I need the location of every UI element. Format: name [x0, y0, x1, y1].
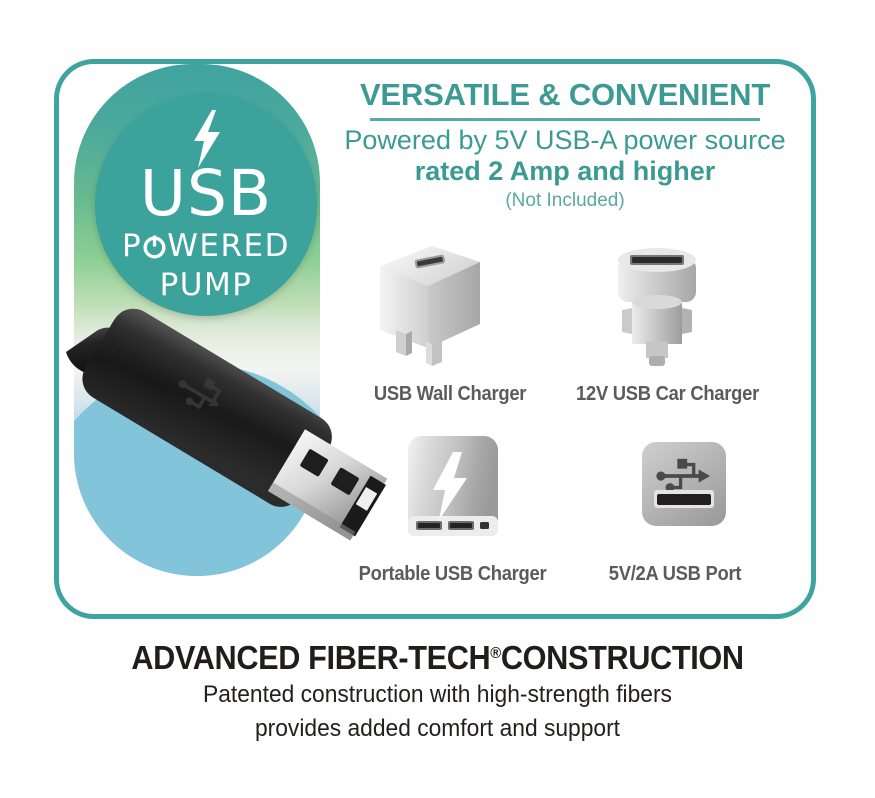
- footer-title-tail: CONSTRUCTION: [501, 639, 744, 676]
- footer-text-block: ADVANCED FIBER-TECH®CONSTRUCTION Patente…: [0, 640, 875, 743]
- footer-subtitle-line1: Patented construction with high-strength…: [22, 681, 853, 709]
- accessory-label: USB Wall Charger: [367, 383, 533, 406]
- badge-powered-suffix: WERED: [167, 228, 290, 264]
- accessory-car-charger: 12V USB Car Charger: [560, 238, 775, 406]
- badge-line-usb: USB: [95, 162, 317, 225]
- usb-a-connector-icon: [58, 300, 388, 580]
- header-note: (Not Included): [330, 189, 800, 214]
- header-underline: [370, 118, 760, 121]
- portable-usb-charger-icon: [345, 428, 560, 563]
- badge-line-powered: PWERED: [95, 231, 317, 262]
- usb-port-icon: [580, 430, 770, 563]
- usb-powered-pump-infographic: USB PWERED PUMP: [0, 0, 875, 798]
- registered-trademark-icon: ®: [490, 645, 501, 662]
- footer-title: ADVANCED FIBER-TECH®CONSTRUCTION: [31, 640, 845, 676]
- header-subtitle-line1: Powered by 5V USB-A power source: [330, 125, 800, 156]
- badge-powered-prefix: P: [122, 228, 142, 264]
- accessory-label: 12V USB Car Charger: [569, 383, 767, 406]
- usb-wall-charger-icon: [360, 238, 540, 383]
- power-symbol-icon: [142, 234, 167, 259]
- accessory-label: 5V/2A USB Port: [588, 563, 763, 586]
- usb-powered-pump-badge: USB PWERED PUMP: [95, 94, 317, 316]
- footer-title-main: ADVANCED FIBER-TECH: [131, 639, 490, 676]
- header-text-block: VERSATILE & CONVENIENT Powered by 5V USB…: [330, 78, 800, 214]
- accessory-wall-charger: USB Wall Charger: [360, 238, 540, 406]
- accessory-usb-port: 5V/2A USB Port: [580, 430, 770, 586]
- footer-subtitle-line2: provides added comfort and support: [22, 715, 853, 743]
- accessory-portable-charger: Portable USB Charger: [345, 428, 560, 586]
- accessory-label: Portable USB Charger: [354, 563, 552, 586]
- usb-car-charger-icon: [560, 238, 775, 383]
- header-title: VERSATILE & CONVENIENT: [330, 78, 800, 112]
- header-subtitle-line2: rated 2 Amp and higher: [330, 156, 800, 187]
- badge-line-pump: PUMP: [95, 270, 317, 301]
